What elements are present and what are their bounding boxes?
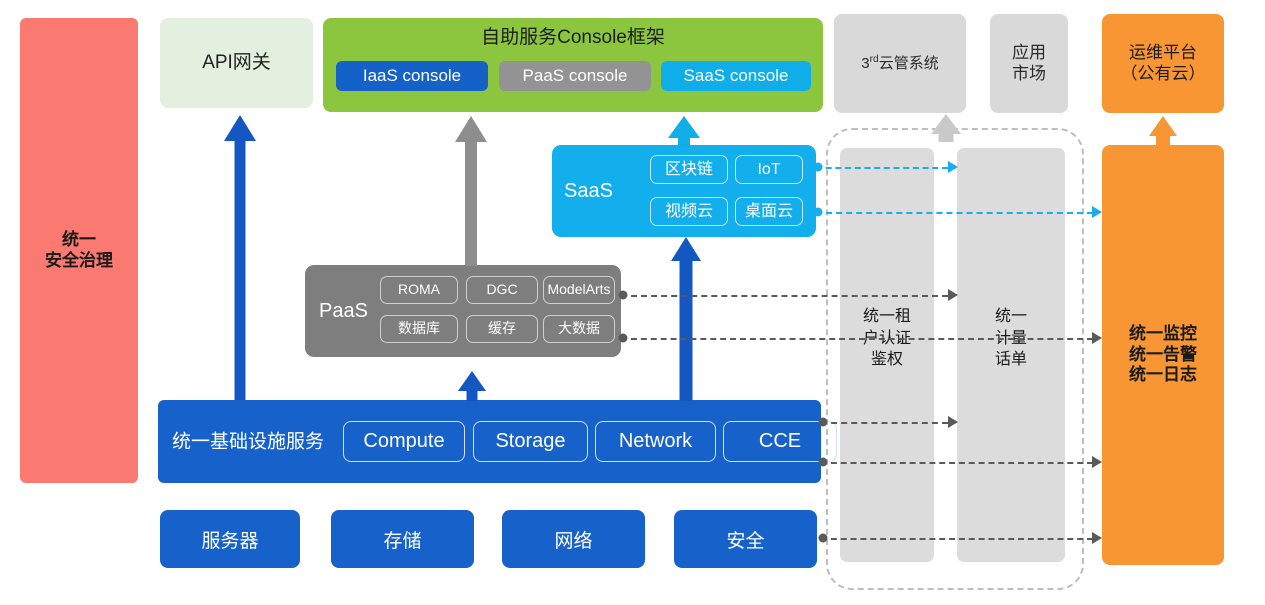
iaas-console-button[interactable]: IaaS console: [336, 61, 488, 91]
saas-label: SaaS: [564, 179, 613, 203]
dashed-saas-to-ops: [816, 212, 1093, 214]
self-service-console-frame: 自助服务Console框架 IaaS console PaaS console …: [323, 18, 823, 112]
paas-label: PaaS: [319, 299, 368, 323]
ops-top-line-1: 运维平台: [1121, 43, 1206, 64]
hardware-tile-network: 网络: [502, 510, 645, 568]
paas-chip-bigdata: 大数据: [543, 315, 615, 343]
arrow-saas-to-console: [668, 116, 700, 146]
iaas-console-label: IaaS console: [363, 66, 461, 87]
saas-block: SaaS 区块链 IoT 视频云 桌面云: [552, 145, 816, 237]
tenant-auth-column: 统一租 户认证 鉴权: [840, 148, 934, 562]
paas-chip-roma: ROMA: [380, 276, 458, 304]
dashed-dot-saas-1: [814, 163, 823, 172]
arrowhead-paas-2: [1092, 332, 1102, 344]
saas-console-button[interactable]: SaaS console: [661, 61, 811, 91]
metering-line-1: 统一: [957, 306, 1065, 328]
app-market-line-1: 应用: [1012, 43, 1046, 64]
arrowhead-infra-1: [948, 416, 958, 428]
arrowhead-saas-2: [1092, 206, 1102, 218]
dashed-dot-paas-2: [619, 334, 628, 343]
saas-chip-blockchain: 区块链: [650, 155, 728, 184]
unified-infrastructure-bar: 统一基础设施服务 Compute Storage Network CCE: [158, 400, 821, 483]
paas-block: PaaS ROMA DGC ModelArts 数据库 缓存 大数据: [305, 265, 621, 357]
infra-chip-network: Network: [595, 421, 716, 462]
arrow-infra-to-api-gateway: [224, 115, 256, 400]
dashed-dot-saas-2: [814, 208, 823, 217]
ops-panel-line-1: 统一监控: [1129, 324, 1197, 345]
hardware-tile-server: 服务器: [160, 510, 300, 568]
arrow-paas-to-console: [455, 116, 487, 266]
arrow-ops-panel-to-ops-top: [1149, 116, 1177, 146]
dashed-infra-to-tenant-auth: [821, 422, 948, 424]
security-governance-panel: 统一 安全治理: [20, 18, 138, 483]
arrow-infra-to-paas: [458, 371, 486, 401]
dashed-paas-to-tenant-auth: [621, 295, 948, 297]
architecture-diagram: 统一 安全治理 API网关 自助服务Console框架 IaaS console…: [0, 0, 1265, 605]
paas-console-label: PaaS console: [523, 66, 628, 87]
console-frame-title: 自助服务Console框架: [323, 26, 823, 49]
arrow-infra-to-saas: [671, 237, 701, 401]
paas-chip-modelarts: ModelArts: [543, 276, 615, 304]
arrow-shared-to-third-party: [931, 114, 961, 142]
paas-chip-database: 数据库: [380, 315, 458, 343]
dashed-paas-to-ops: [621, 338, 1093, 340]
infra-chip-storage: Storage: [473, 421, 588, 462]
infrastructure-label: 统一基础设施服务: [172, 430, 324, 453]
dashed-hardware-to-ops: [821, 538, 1093, 540]
paas-chip-dgc: DGC: [466, 276, 538, 304]
saas-chip-desktop-cloud: 桌面云: [735, 197, 803, 226]
infra-chip-compute: Compute: [343, 421, 465, 462]
third-party-label: 3rd云管系统: [861, 54, 938, 73]
security-line-1: 统一: [45, 230, 113, 251]
dashed-dot-hardware: [819, 534, 828, 543]
ops-panel-line-3: 统一日志: [1129, 365, 1197, 386]
dashed-dot-infra-2: [819, 458, 828, 467]
tenant-auth-line-1: 统一租: [840, 306, 934, 328]
paas-console-button[interactable]: PaaS console: [499, 61, 651, 91]
third-party-cloud-mgmt-box: 3rd云管系统: [834, 14, 966, 113]
tenant-auth-line-3: 鉴权: [840, 349, 934, 371]
unified-ops-panel: 统一监控 统一告警 统一日志: [1102, 145, 1224, 565]
arrowhead-hardware: [1092, 532, 1102, 544]
dashed-saas-to-tenant-auth: [816, 167, 948, 169]
arrowhead-infra-2: [1092, 456, 1102, 468]
hardware-tile-storage: 存储: [331, 510, 474, 568]
metering-billing-column: 统一 计量 话单: [957, 148, 1065, 562]
app-market-line-2: 市场: [1012, 64, 1046, 85]
saas-chip-iot: IoT: [735, 155, 803, 184]
ops-top-line-2: （公有云）: [1121, 64, 1206, 85]
ops-panel-line-2: 统一告警: [1129, 345, 1197, 366]
ops-platform-box: 运维平台 （公有云）: [1102, 14, 1224, 113]
hardware-tile-security: 安全: [674, 510, 817, 568]
arrowhead-saas-1: [948, 161, 958, 173]
paas-chip-cache: 缓存: [466, 315, 538, 343]
security-line-2: 安全治理: [45, 251, 113, 272]
dashed-infra-to-ops: [821, 462, 1093, 464]
saas-chip-video-cloud: 视频云: [650, 197, 728, 226]
saas-console-label: SaaS console: [684, 66, 789, 87]
dashed-dot-infra-1: [819, 418, 828, 427]
app-market-box: 应用 市场: [990, 14, 1068, 113]
infra-chip-cce: CCE: [723, 421, 837, 462]
metering-line-3: 话单: [957, 349, 1065, 371]
api-gateway-label: API网关: [202, 51, 271, 74]
api-gateway-box: API网关: [160, 18, 313, 108]
arrowhead-paas-1: [948, 289, 958, 301]
dashed-dot-paas-1: [619, 291, 628, 300]
